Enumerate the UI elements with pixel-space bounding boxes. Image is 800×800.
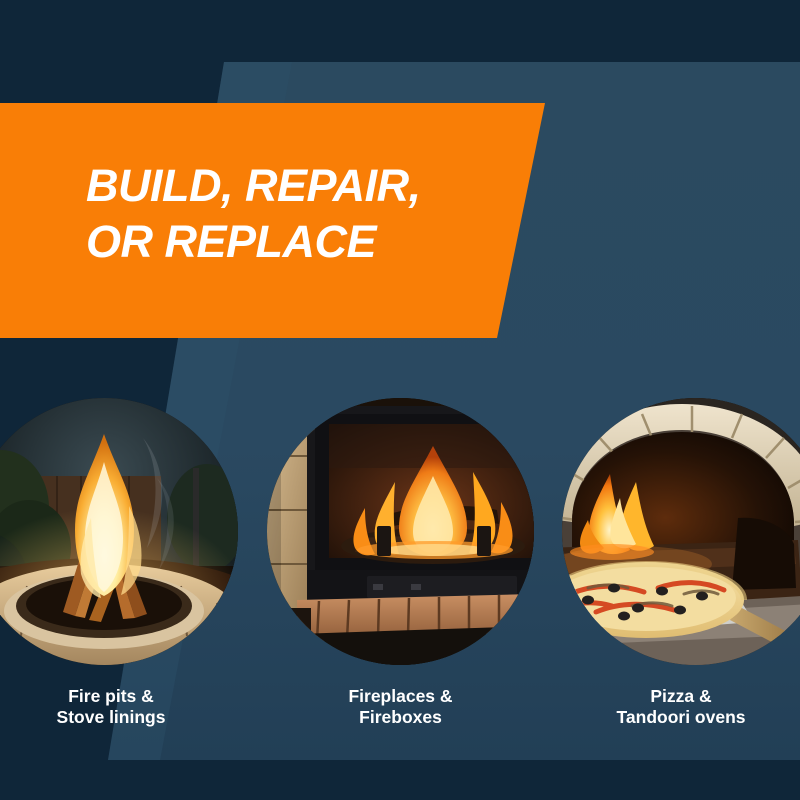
page-title: BUILD, REPAIR, OR REPLACE <box>86 158 506 270</box>
caption-fireplaces: Fireplaces & Fireboxes <box>267 686 534 728</box>
promotional-poster: BUILD, REPAIR, OR REPLACE <box>0 0 800 800</box>
fireplace-photo <box>267 398 534 665</box>
caption-pizza-ovens: Pizza & Tandoori ovens <box>562 686 800 728</box>
caption-fire-pits: Fire pits & Stove linings <box>0 686 222 728</box>
